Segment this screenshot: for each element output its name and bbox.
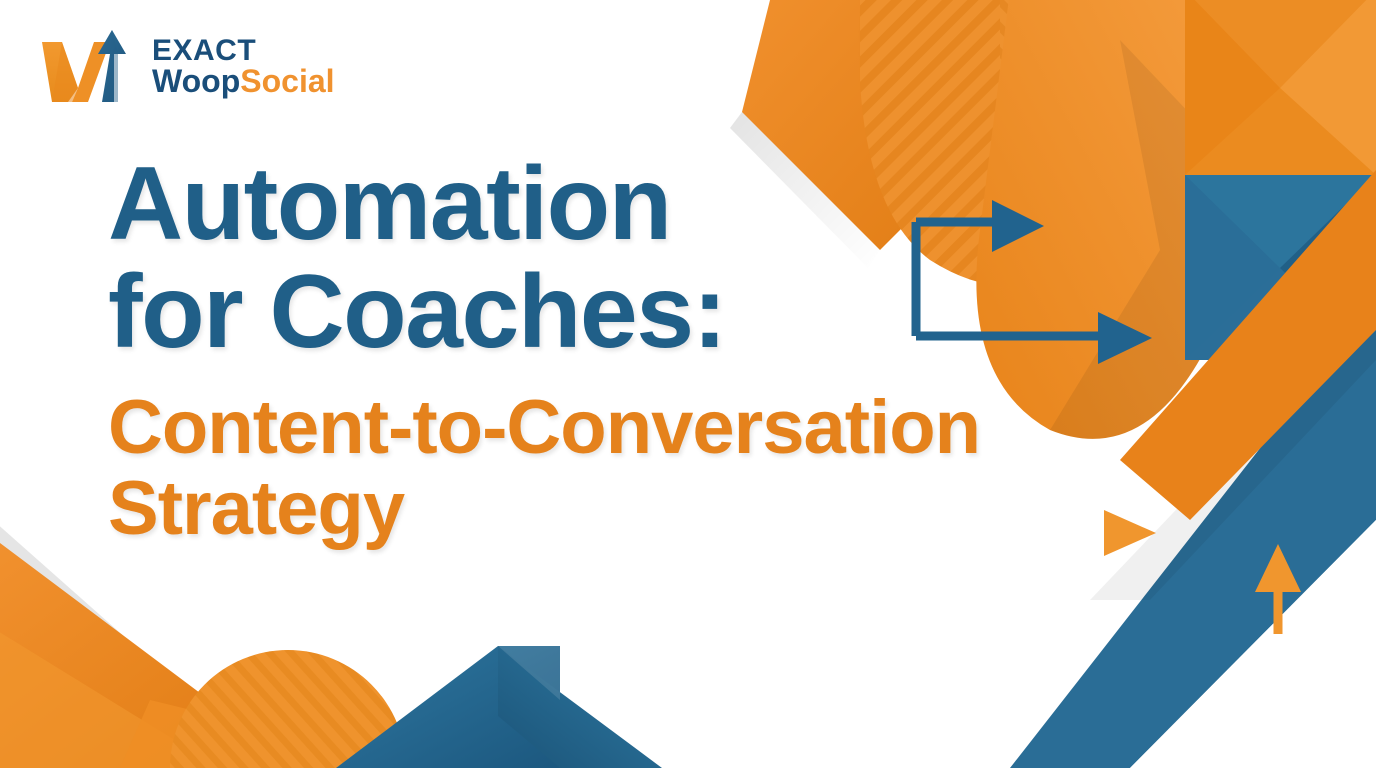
page-title: Automation for Coaches: [108,150,980,366]
promo-banner: EXACT WoopSocial Automation for Coaches:… [0,0,1376,768]
brand-wordmark: EXACT WoopSocial [152,37,335,97]
headline-block: Automation for Coaches: Content-to-Conve… [108,150,980,549]
bottom-left-decor-group [0,514,665,768]
page-subtitle: Content-to-Conversation Strategy [108,388,980,549]
brand-name-line1: EXACT [152,37,335,66]
brand-name-woop: Woop [152,63,240,99]
brand-name-social: Social [240,63,334,99]
w-arrow-logo-icon [38,28,150,106]
brand-logo[interactable]: EXACT WoopSocial [38,28,335,106]
brand-name-line2: WoopSocial [152,66,335,97]
